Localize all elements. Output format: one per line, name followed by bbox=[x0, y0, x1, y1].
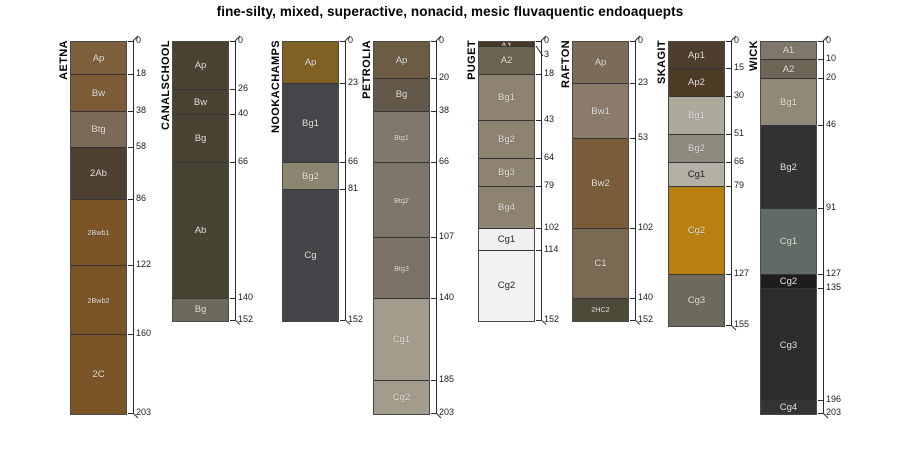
horizon-segment[interactable]: Ap bbox=[173, 42, 228, 90]
horizon-label: Cg3 bbox=[761, 341, 816, 351]
profile-name-label: WICK bbox=[748, 40, 760, 71]
horizon-label: Bw bbox=[173, 98, 228, 108]
profile-name-label: CANALSCHOOL bbox=[160, 40, 172, 130]
horizon-segment[interactable]: Ab bbox=[173, 163, 228, 299]
horizon-segment[interactable]: A1 bbox=[761, 42, 816, 60]
horizon-segment[interactable]: Cg2 bbox=[761, 275, 816, 290]
profile-name-label: AETNA bbox=[58, 40, 70, 80]
horizon-label: Cg4 bbox=[761, 403, 816, 413]
horizon-segment[interactable]: Bg2 bbox=[761, 126, 816, 208]
profile-name-label: SKAGIT bbox=[656, 40, 668, 84]
horizon-segment[interactable]: Bg bbox=[173, 299, 228, 321]
horizon-label: Ap bbox=[173, 61, 228, 71]
horizon-segment[interactable]: Bw bbox=[173, 90, 228, 116]
horizon-label: Bg2 bbox=[761, 163, 816, 173]
horizon-label: A1 bbox=[761, 46, 816, 56]
profile-name-label: PETROLIA bbox=[361, 40, 373, 99]
profile-column[interactable]: A1A2Bg1Bg2Cg1Cg2Cg3Cg4 bbox=[760, 41, 817, 415]
horizon-segment[interactable]: Bg bbox=[173, 115, 228, 163]
horizon-segment[interactable]: Cg4 bbox=[761, 401, 816, 414]
horizon-label: Cg2 bbox=[761, 277, 816, 287]
horizon-label: Bg bbox=[173, 305, 228, 315]
horizon-label: Ab bbox=[173, 226, 228, 236]
horizon-label: Bg1 bbox=[761, 98, 816, 108]
profile-column[interactable]: ApBwBgAbBg bbox=[172, 41, 229, 322]
soil-profile-wick: WICKA1A2Bg1Bg2Cg1Cg2Cg3Cg401020469112713… bbox=[700, 0, 830, 450]
profile-name-label: PUGET bbox=[466, 40, 478, 80]
profile-name-label: RAFTON bbox=[560, 40, 572, 88]
profile-name-label: NOOKACHAMPS bbox=[270, 40, 282, 133]
horizon-segment[interactable]: Bg1 bbox=[761, 79, 816, 127]
soil-profile-figure: fine-silty, mixed, superactive, nonacid,… bbox=[0, 0, 900, 450]
horizon-segment[interactable]: A2 bbox=[761, 60, 816, 78]
horizon-segment[interactable]: Cg3 bbox=[761, 289, 816, 401]
horizon-label: Bg bbox=[173, 134, 228, 144]
horizon-segment[interactable]: Cg1 bbox=[761, 209, 816, 275]
axis-leader-lines bbox=[815, 31, 855, 427]
horizon-label: A2 bbox=[761, 65, 816, 75]
horizon-label: Cg1 bbox=[761, 237, 816, 247]
